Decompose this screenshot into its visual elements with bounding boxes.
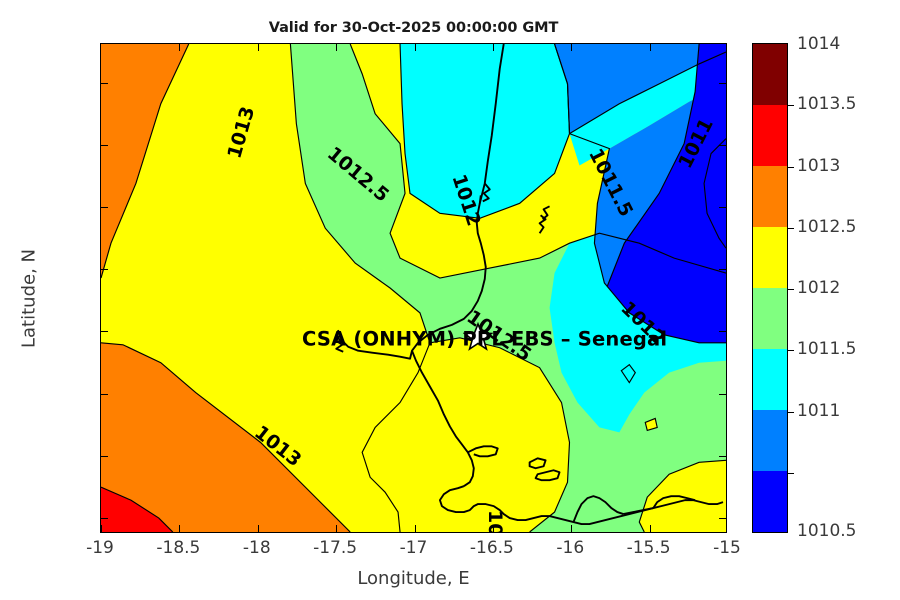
x-tick xyxy=(101,525,102,532)
x-tick-label: -18.5 xyxy=(156,538,200,558)
colorbar-label: 1013.5 xyxy=(797,94,856,114)
colorbar[interactable] xyxy=(752,43,788,533)
x-tick-top xyxy=(650,44,651,51)
x-tick-label: -16 xyxy=(556,538,584,558)
y-axis-title: Latitude, N xyxy=(19,209,40,389)
colorbar-tick xyxy=(787,105,794,106)
colorbar-tick xyxy=(787,350,794,351)
x-tick-label: -15 xyxy=(713,538,741,558)
x-tick-label: -16.5 xyxy=(470,538,514,558)
y-tick-right xyxy=(719,145,726,146)
y-tick-right xyxy=(719,456,726,457)
x-tick-label: -17.5 xyxy=(313,538,357,558)
page-title: Valid for 30-Oct-2025 00:00:00 GMT xyxy=(100,20,727,36)
y-tick xyxy=(101,145,108,146)
colorbar-band xyxy=(753,471,787,532)
y-tick-right xyxy=(719,394,726,395)
colorbar-label: 1014 xyxy=(797,34,840,54)
x-tick-label: -17 xyxy=(400,538,428,558)
y-tick-right xyxy=(719,518,726,519)
colorbar-tick xyxy=(787,228,794,229)
y-tick xyxy=(101,207,108,208)
x-tick xyxy=(336,525,337,532)
y-tick-right xyxy=(719,269,726,270)
colorbar-tick xyxy=(787,473,794,474)
colorbar-label: 1011.5 xyxy=(797,339,856,359)
colorbar-tick xyxy=(787,289,794,290)
figure-canvas: Valid for 30-Oct-2025 00:00:00 GMT xyxy=(0,0,900,600)
y-tick-right xyxy=(719,83,726,84)
x-tick-label: -15.5 xyxy=(627,538,671,558)
colorbar-label: 1013 xyxy=(797,156,840,176)
contour-plot[interactable]: 1013 1012.5 1012 1011.5 1011 1012.5 1012… xyxy=(100,43,727,533)
x-tick-label: -18 xyxy=(243,538,271,558)
colorbar-band xyxy=(753,227,787,288)
colorbar-label: 1011 xyxy=(797,401,840,421)
x-tick xyxy=(415,525,416,532)
x-tick-top xyxy=(493,44,494,51)
colorbar-tick xyxy=(787,412,794,413)
x-tick xyxy=(571,525,572,532)
colorbar-tick xyxy=(787,167,794,168)
y-tick-right xyxy=(719,207,726,208)
colorbar-band xyxy=(753,105,787,166)
y-tick-right xyxy=(719,331,726,332)
x-tick-top xyxy=(179,44,180,51)
contour-field xyxy=(101,44,726,532)
colorbar-label: 1010.5 xyxy=(797,521,856,541)
x-axis-title: Longitude, E xyxy=(100,568,727,589)
station-label: CSA (ONHYM) PPL EBS – Senegal xyxy=(302,328,667,351)
colorbar-band xyxy=(753,44,787,105)
y-tick xyxy=(101,83,108,84)
x-tick xyxy=(650,525,651,532)
colorbar-band xyxy=(753,288,787,349)
colorbar-band xyxy=(753,166,787,227)
y-tick xyxy=(101,331,108,332)
y-tick xyxy=(101,269,108,270)
x-tick-label: -19 xyxy=(86,538,114,558)
x-tick-top xyxy=(336,44,337,51)
y-tick xyxy=(101,518,108,519)
x-tick-top xyxy=(258,44,259,51)
contour-label: 1012.5 xyxy=(484,510,506,533)
x-tick xyxy=(258,525,259,532)
y-tick xyxy=(101,456,108,457)
y-tick xyxy=(101,394,108,395)
x-tick-top xyxy=(415,44,416,51)
colorbar-band xyxy=(753,410,787,471)
colorbar-label: 1012.5 xyxy=(797,217,856,237)
x-tick-top xyxy=(571,44,572,51)
x-tick xyxy=(179,525,180,532)
colorbar-band xyxy=(753,349,787,410)
colorbar-label: 1012 xyxy=(797,278,840,298)
